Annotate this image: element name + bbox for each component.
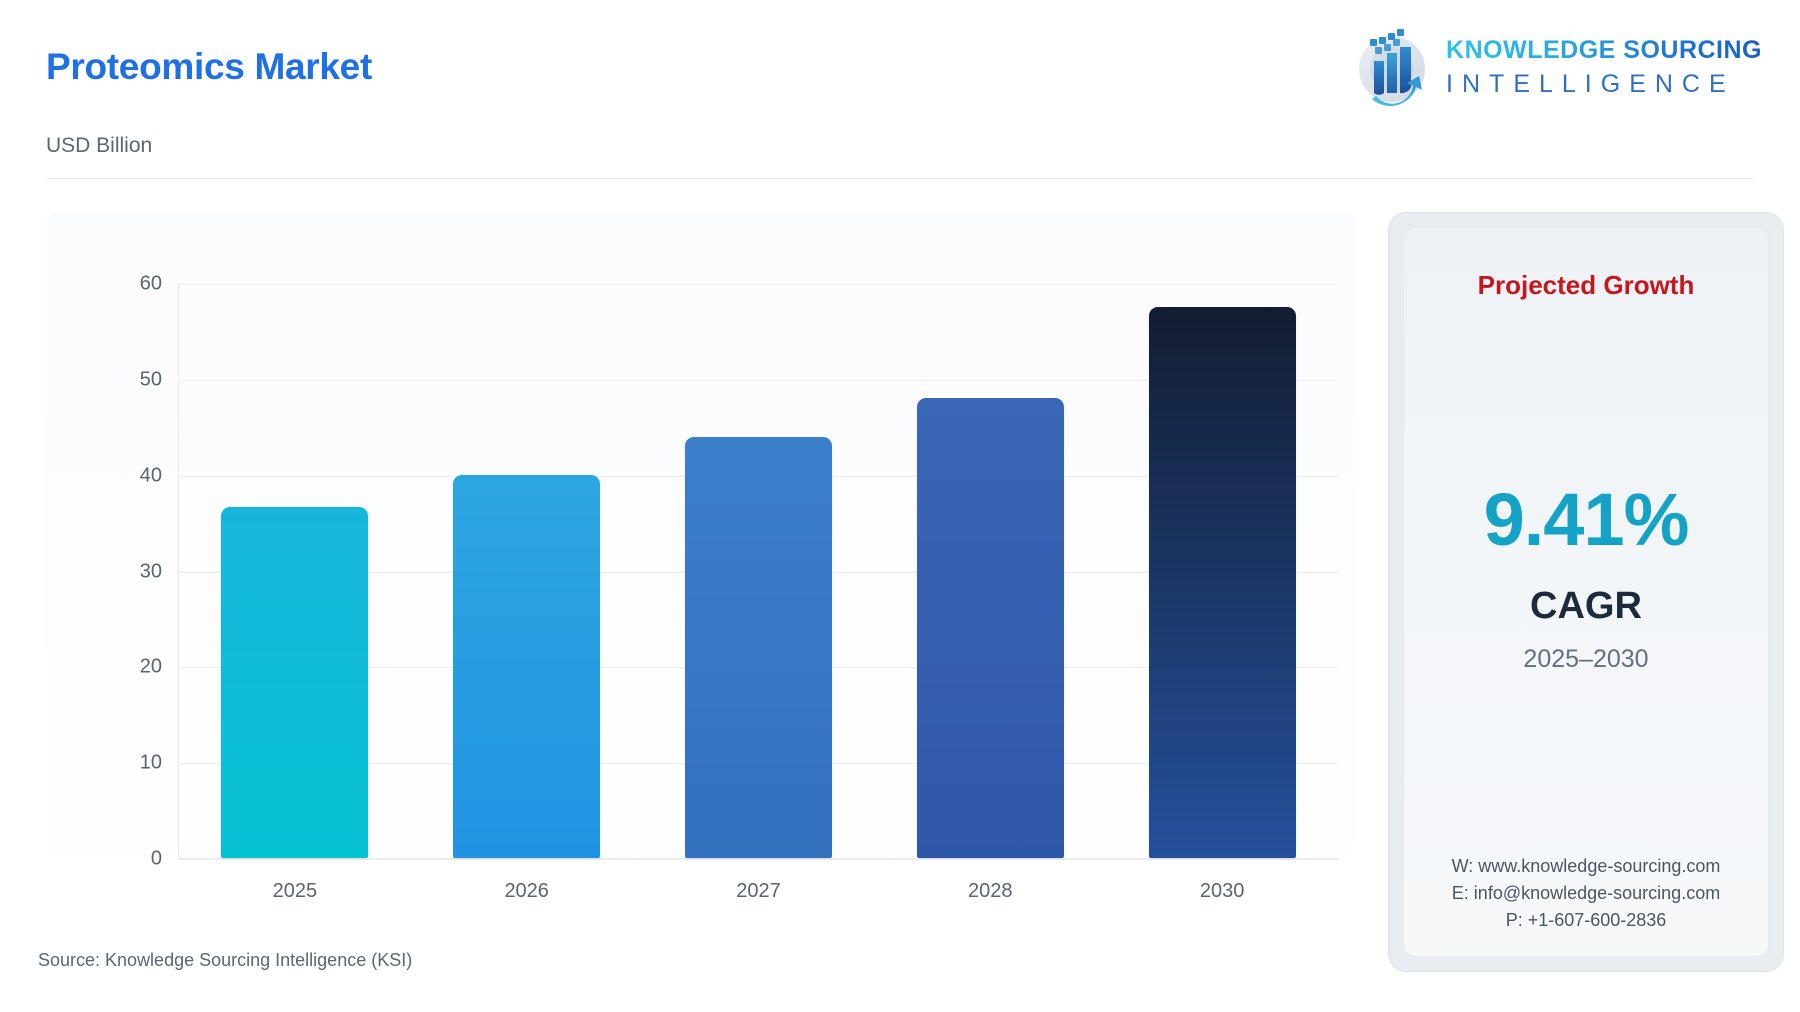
x-axis-tick-label: 2028 <box>968 880 1013 903</box>
cagr-period: 2025–2030 <box>1523 647 1648 672</box>
projected-growth-heading: Projected Growth <box>1478 270 1695 301</box>
page-header: Proteomics Market USD Billion <box>0 0 1800 182</box>
bar-slot: 2025 <box>191 284 400 858</box>
bar-2026[interactable] <box>453 475 600 858</box>
y-axis-tick-label: 60 <box>140 273 162 296</box>
gridline <box>178 859 1338 860</box>
bar-2025[interactable] <box>221 507 368 858</box>
cagr-value: 9.41% <box>1484 483 1689 557</box>
logo-line-intelligence: INTELLIGENCE <box>1446 72 1762 97</box>
x-axis-tick-label: 2025 <box>273 880 318 903</box>
bar-slot: 2028 <box>886 284 1095 858</box>
y-axis-tick-label: 30 <box>140 560 162 583</box>
plot-area: 0102030405060 20252026202720282030 <box>178 284 1338 859</box>
bar-2030[interactable] <box>1149 307 1296 858</box>
contact-line: W: www.knowledge-sourcing.com <box>1404 853 1768 880</box>
chart-page: Proteomics Market USD Billion <box>0 0 1800 1012</box>
contact-line: P: +1-607-600-2836 <box>1404 907 1768 934</box>
cagr-label: CAGR <box>1530 587 1642 625</box>
bar-slot: 2027 <box>654 284 863 858</box>
contact-line: E: info@knowledge-sourcing.com <box>1404 880 1768 907</box>
bar-2027[interactable] <box>685 437 832 858</box>
bar-slot: 2030 <box>1118 284 1327 858</box>
y-axis-tick-label: 40 <box>140 464 162 487</box>
contact-block: W: www.knowledge-sourcing.comE: info@kno… <box>1404 853 1768 934</box>
ksi-globe-bars-arrow-logo-icon <box>1348 25 1432 109</box>
chart-unit-subtitle: USD Billion <box>46 134 152 158</box>
y-axis-tick-label: 50 <box>140 368 162 391</box>
projected-growth-card: Projected Growth 9.41% CAGR 2025–2030 W:… <box>1403 227 1769 957</box>
bar-slot: 2026 <box>422 284 631 858</box>
bar-2028[interactable] <box>917 398 1064 858</box>
y-axis-tick-label: 20 <box>140 656 162 679</box>
y-axis-tick-label: 10 <box>140 752 162 775</box>
chart-panel: 0102030405060 20252026202720282030 <box>46 212 1356 912</box>
y-axis-tick-label: 0 <box>151 848 162 871</box>
x-axis-tick-label: 2030 <box>1200 880 1245 903</box>
x-axis-tick-label: 2027 <box>736 880 781 903</box>
source-note: Source: Knowledge Sourcing Intelligence … <box>38 950 412 971</box>
logo-wordmark: KNOWLEDGE SOURCING INTELLIGENCE <box>1446 38 1762 97</box>
page-title: Proteomics Market <box>46 46 372 88</box>
header-divider <box>46 178 1754 179</box>
projected-growth-panel: Projected Growth 9.41% CAGR 2025–2030 W:… <box>1388 212 1784 972</box>
bar-series: 20252026202720282030 <box>179 284 1338 858</box>
x-axis-tick-label: 2026 <box>504 880 549 903</box>
logo-line-knowledge-sourcing: KNOWLEDGE SOURCING <box>1446 38 1762 63</box>
company-logo: KNOWLEDGE SOURCING INTELLIGENCE <box>1348 24 1762 110</box>
